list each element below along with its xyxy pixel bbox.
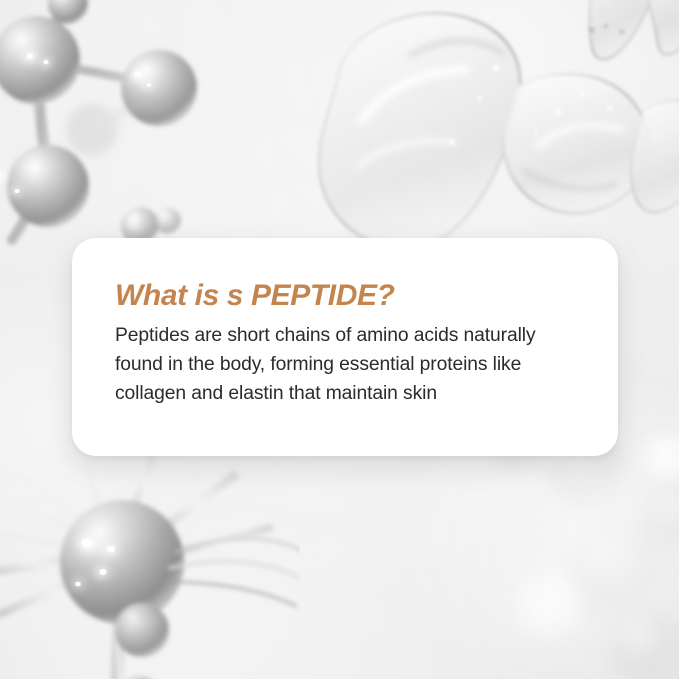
card-heading: What is s PEPTIDE?	[115, 280, 578, 312]
card-body-text: Peptides are short chains of amino acids…	[115, 321, 578, 408]
info-card: What is s PEPTIDE? Peptides are short ch…	[72, 238, 618, 456]
image-canvas: What is s PEPTIDE? Peptides are short ch…	[0, 0, 679, 679]
